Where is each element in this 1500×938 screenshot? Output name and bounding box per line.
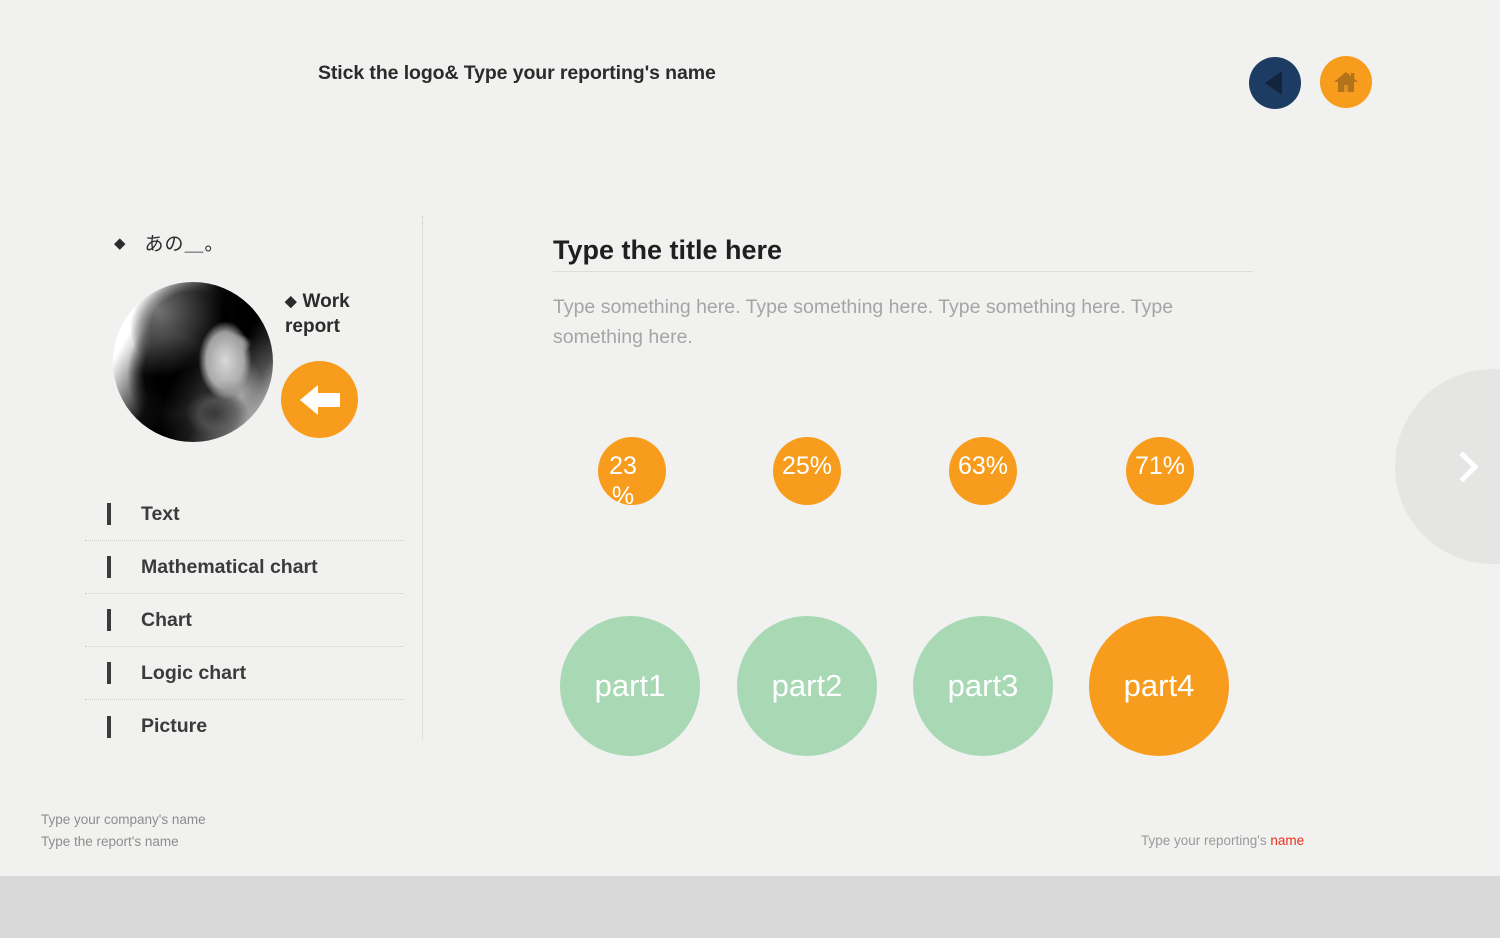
diamond-icon: ◆ (114, 235, 127, 252)
next-slide-button[interactable] (1395, 369, 1500, 564)
sidebar-item-label: Text (141, 503, 180, 526)
sidebar-jp-heading: ◆あの＿。 (114, 229, 225, 256)
part-circle[interactable]: part4 (1089, 616, 1229, 756)
sidebar-jp-label: あの＿。 (145, 234, 225, 255)
sidebar-item-label: Picture (141, 715, 207, 738)
percent-circle[interactable]: 25% (773, 437, 841, 505)
footer-right-prefix: Type your reporting's (1141, 833, 1270, 848)
back-button[interactable] (1249, 57, 1301, 109)
sidebar-item-picture[interactable]: Picture (85, 700, 403, 753)
home-icon (1333, 70, 1359, 94)
part-circle[interactable]: part2 (737, 616, 877, 756)
arrow-left-icon (300, 385, 340, 415)
diamond-icon: ◆ (285, 293, 297, 310)
bar-marker-icon (107, 556, 111, 578)
column-divider (422, 216, 423, 740)
sidebar-item-label: Chart (141, 609, 192, 632)
sidebar-item-text[interactable]: Text (85, 488, 403, 541)
sidebar-item-chart[interactable]: Chart (85, 594, 403, 647)
bar-marker-icon (107, 503, 111, 525)
percent-circle[interactable]: 71% (1126, 437, 1194, 505)
footer-report-name: Type the report's name (41, 831, 206, 853)
footer-company-name: Type your company's name (41, 809, 206, 831)
percent-circle[interactable]: 63% (949, 437, 1017, 505)
bar-marker-icon (107, 716, 111, 738)
footer-left: Type your company's name Type the report… (41, 809, 206, 853)
part-circle[interactable]: part1 (560, 616, 700, 756)
sidebar-item-mathematical-chart[interactable]: Mathematical chart (85, 541, 403, 594)
portrait-highlight (113, 282, 273, 442)
page-title: Stick the logo& Type your reporting's na… (318, 62, 716, 85)
footer-right-highlight: name (1270, 833, 1304, 848)
footer-right: Type your reporting's name (1141, 833, 1304, 848)
sidebar-item-label: Logic chart (141, 662, 246, 685)
slide-canvas: Stick the logo& Type your reporting's na… (0, 0, 1500, 876)
content-body-text: Type something here. Type something here… (553, 292, 1243, 352)
previous-section-button[interactable] (281, 361, 358, 438)
work-report-heading: ◆Work report (285, 289, 405, 339)
sidebar-item-label: Mathematical chart (141, 556, 318, 579)
percent-circle[interactable]: 23% (598, 437, 666, 505)
bar-marker-icon (107, 662, 111, 684)
home-button[interactable] (1320, 56, 1372, 108)
chevron-right-icon (1447, 451, 1478, 482)
section-nav-list: Text Mathematical chart Chart Logic char… (85, 488, 403, 753)
content-title: Type the title here (553, 235, 782, 266)
portrait-avatar (113, 282, 273, 442)
presentation-viewer: Stick the logo& Type your reporting's na… (0, 0, 1500, 938)
bar-marker-icon (107, 609, 111, 631)
triangle-left-icon (1265, 71, 1282, 95)
part-circle[interactable]: part3 (913, 616, 1053, 756)
sidebar-item-logic-chart[interactable]: Logic chart (85, 647, 403, 700)
title-underline (553, 271, 1253, 272)
